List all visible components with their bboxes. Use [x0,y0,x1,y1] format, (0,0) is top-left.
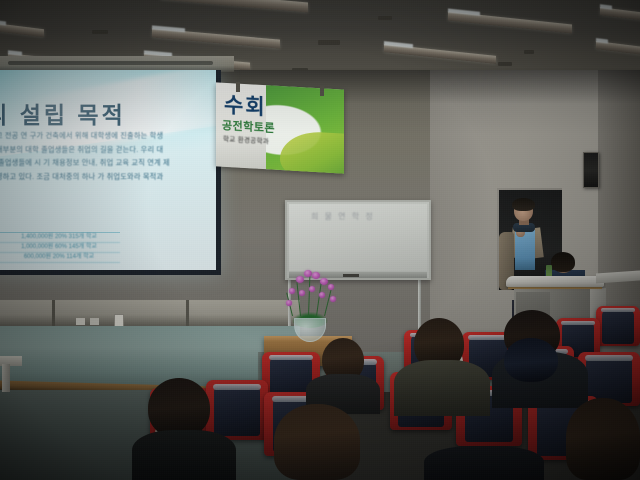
whiteboard-eraser [343,274,359,277]
slide-table-row: 1,400,000원 20% 315개 학교 [0,233,120,243]
ceiling-light-6 [448,11,572,33]
ceiling-light-9 [596,41,640,55]
banner-small-text: 학교 환경공학과 [223,133,269,146]
wall-banner: 수회 공전학토론 학교 환경공학과 [216,82,344,173]
slide-body-line-1: 업에 고 전공 연 구가 건축에서 위해 대학생에 진출하는 학생 [0,132,210,141]
presenter-hair [512,198,535,211]
whiteboard: 희 물 연 학 정 [285,200,431,280]
stage-floor [0,326,300,388]
whiteboard-surface: 희 물 연 학 정 [289,204,427,271]
audience-shoulders [394,360,490,416]
banner-bracket-right [320,86,324,96]
side-table-leg [2,364,10,392]
ceiling-vent-6 [498,62,512,66]
projection-screen: 아리 설립 목적 업에 고 전공 연 구가 건축에서 위해 대학생에 진출하는 … [0,70,221,275]
orchid-bloom [330,296,336,302]
audience-head [148,378,210,438]
ceiling-vent-7 [524,50,534,54]
slide-body-line-3: 행 및 졸업생들에 시 기 채용정보 안내, 취업 교육 교직 연계 제 [0,159,210,168]
wall-outlet-2 [90,318,99,325]
slide-table-row: 1,000,000원 60% 145개 학교 [0,243,120,253]
ceiling-light-4 [152,28,280,48]
wall-outlet-1 [76,318,85,325]
seat [596,306,640,346]
seat [206,380,268,440]
ceiling-light-7 [384,44,496,64]
wall-speaker [583,152,599,188]
whiteboard-writing: 희 물 연 학 정 [311,211,375,222]
ceiling-light-1 [0,23,44,37]
orchid-bloom [312,272,320,279]
orchid-bloom [286,300,292,306]
slide-title: 아리 설립 목적 [0,96,126,130]
audience-shoulders [132,430,236,480]
slide-body-text: 업에 고 전공 연 구가 건축에서 위해 대학생에 진출하는 학생 고는 대부분… [0,132,210,186]
orchid-bloom [304,270,312,277]
ceiling-light-3 [160,0,308,12]
podium-top [506,276,604,287]
seated-staff-head [551,252,575,272]
slide-body-line-4: 로 운영하고 있다. 조금 대처중의 하나 가 취업도와라 목적과 [0,173,210,182]
banner-bracket-left [236,82,240,92]
audience-shoulders [424,446,544,480]
ceiling-light-8 [600,7,640,21]
lecture-hall-photo: 아리 설립 목적 업에 고 전공 연 구가 건축에서 위해 대학생에 진출하는 … [0,0,640,480]
orchid-bloom [319,292,325,298]
orchid-bloom [328,284,334,290]
audience-head-long-hair [566,398,640,480]
slide-table: 1,400,000원 20% 315개 학교 1,000,000원 60% 14… [0,232,120,263]
orchid-bloom [299,290,305,296]
ceiling-vent-4 [378,16,392,20]
audience-head-long-hair [274,404,360,480]
orchid-bloom [320,278,328,285]
orchid-bloom [296,276,304,283]
wall-lower-panel [0,300,300,328]
audience-head-with-cap [504,338,558,382]
ceiling-vent-3 [318,40,340,45]
ceiling-vent-1 [92,30,108,34]
slide-table-row: 600,000원 20% 114개 학교 [0,253,120,263]
wall-panel-seam-2 [186,300,189,326]
orchid-bloom [309,286,315,292]
slide-body-line-2: 고는 대부분의 대학 졸업생들은 취업의 길을 걷는다. 우리 대 [0,146,210,155]
wall-panel-seam-1 [52,300,55,326]
orchid-bloom [289,288,295,294]
screen-roller [8,61,213,65]
